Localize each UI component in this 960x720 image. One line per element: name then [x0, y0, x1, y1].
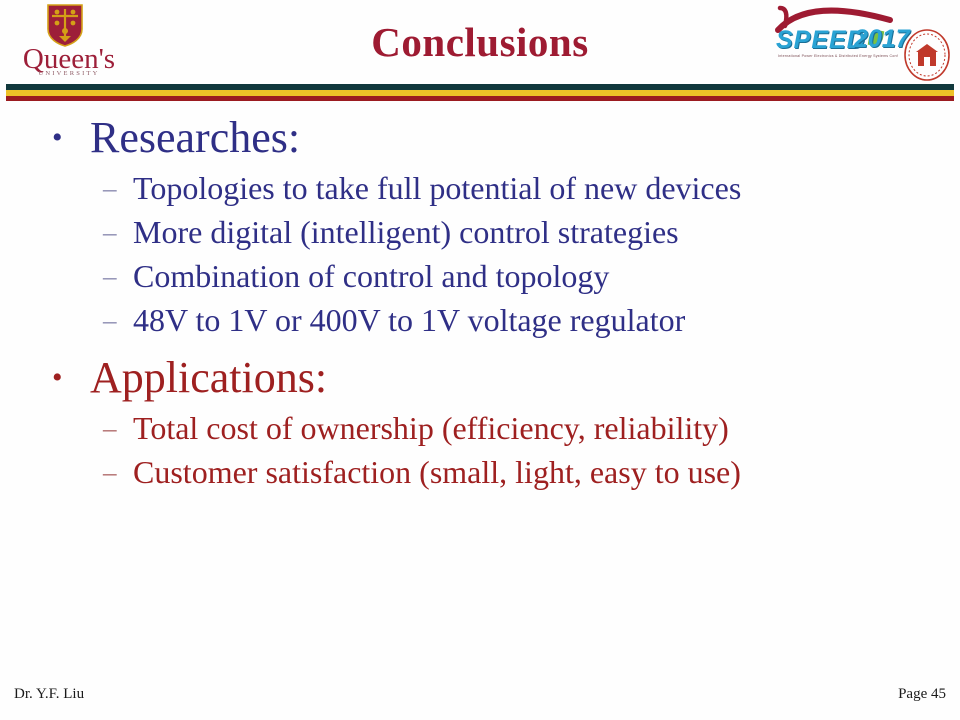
list-item-label: Topologies to take full potential of new… [133, 170, 741, 206]
queens-university-logo: Queen's UNIVERSITY [8, 2, 128, 80]
bullet-marker: • [52, 350, 63, 406]
tricolour-divider [6, 84, 954, 101]
bullet-heading-applications: • Applications: [0, 350, 960, 406]
list-item: – More digital (intelligent) control str… [0, 210, 960, 254]
speed-2017-logo: SPEED 2017 International Power Electroni… [770, 4, 900, 72]
list-item-label: Total cost of ownership (efficiency, rel… [133, 410, 729, 446]
bullet-marker: • [52, 110, 63, 166]
dash-marker: – [103, 298, 117, 342]
list-item: – Combination of control and topology [0, 254, 960, 298]
list-item-label: More digital (intelligent) control strat… [133, 214, 679, 250]
list-item: – Total cost of ownership (efficiency, r… [0, 406, 960, 450]
list-item: – 48V to 1V or 400V to 1V voltage regula… [0, 298, 960, 342]
list-item-label: 48V to 1V or 400V to 1V voltage regulato… [133, 302, 685, 338]
queens-university-subtext: UNIVERSITY [10, 70, 128, 77]
dash-marker: – [103, 406, 117, 450]
list-item-label: Customer satisfaction (small, light, eas… [133, 454, 741, 490]
list-item-label: Combination of control and topology [133, 258, 609, 294]
bullet-heading-label: Applications: [90, 353, 327, 402]
dash-marker: – [103, 254, 117, 298]
footer-page-number: Page 45 [898, 686, 946, 703]
dash-marker: – [103, 210, 117, 254]
speed-wordmark: SPEED [776, 26, 866, 55]
speed-tagline: International Power Electronics & Distri… [778, 54, 898, 58]
bullet-heading-researches: • Researches: [0, 110, 960, 166]
slide-header: Queen's UNIVERSITY Conclusions SPEED 201… [0, 0, 960, 82]
bullet-group-applications: • Applications: – Total cost of ownershi… [0, 350, 960, 494]
queens-crest-icon [46, 3, 84, 47]
bullet-heading-label: Researches: [90, 113, 300, 162]
speed-year: 2017 [854, 25, 910, 54]
slide-content: • Researches: – Topologies to take full … [0, 110, 960, 494]
page-title: Conclusions [180, 18, 780, 66]
list-item: – Topologies to take full potential of n… [0, 166, 960, 210]
dash-marker: – [103, 450, 117, 494]
bullet-group-researches: • Researches: – Topologies to take full … [0, 110, 960, 342]
conference-seal-icon [903, 28, 951, 82]
footer-author: Dr. Y.F. Liu [14, 686, 84, 703]
list-item: – Customer satisfaction (small, light, e… [0, 450, 960, 494]
divider-stripe-red [6, 96, 954, 101]
dash-marker: – [103, 166, 117, 210]
